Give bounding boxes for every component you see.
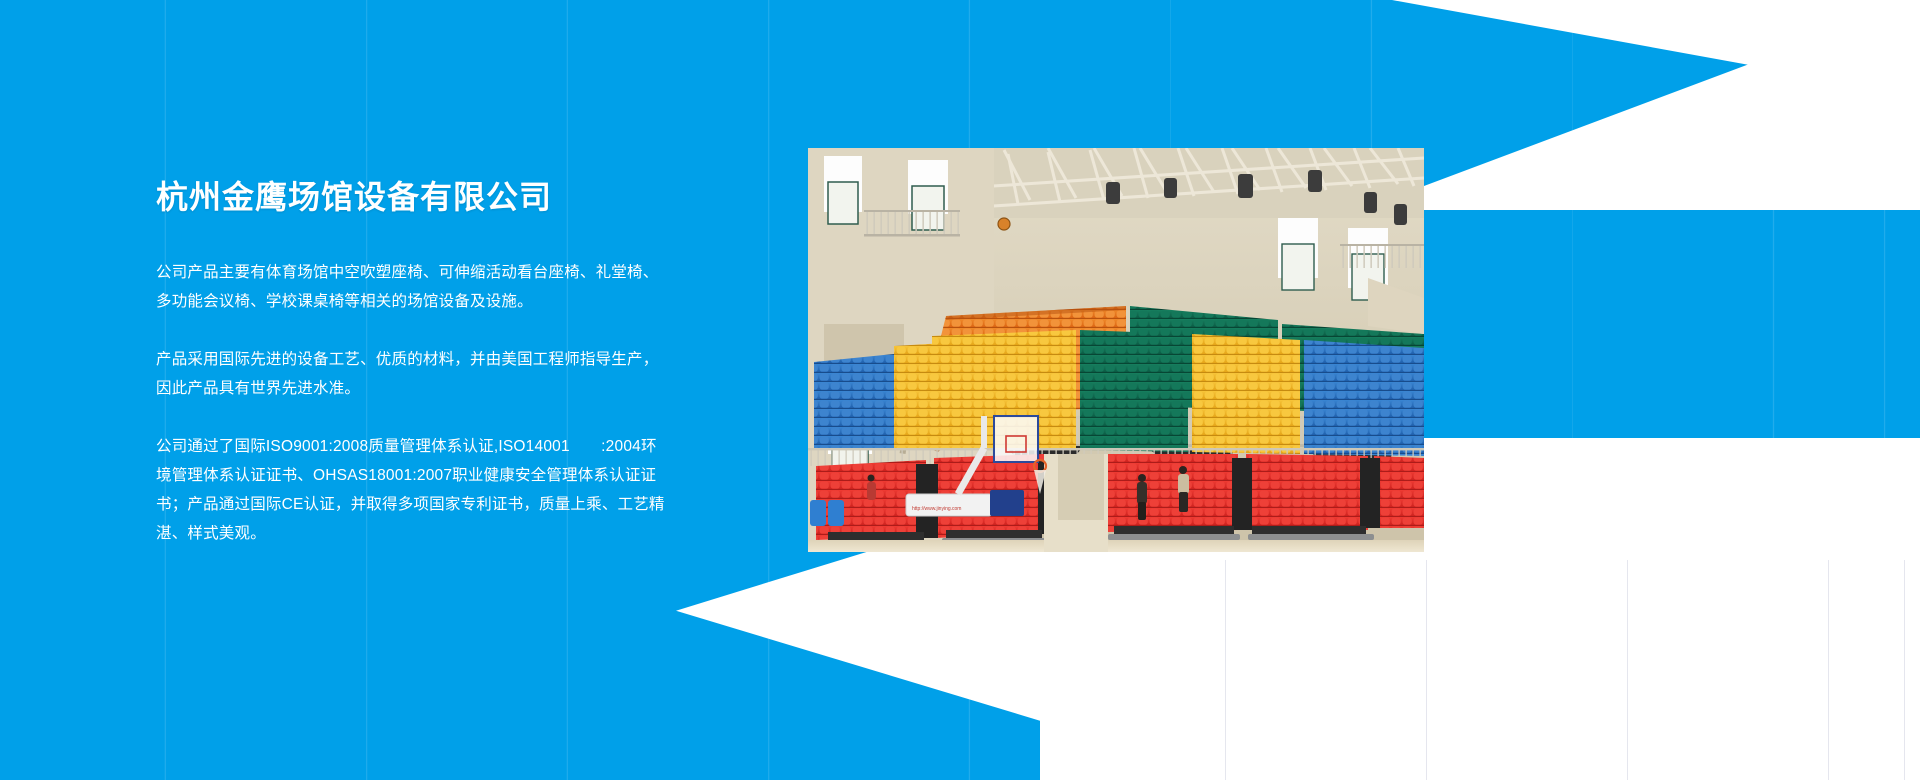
photo-illustration: http://www.jinying.com bbox=[808, 148, 1424, 552]
svg-text:http://www.jinying.com: http://www.jinying.com bbox=[912, 506, 961, 512]
about-paragraph-certifications: 公司通过了国际ISO9001:2008质量管理体系认证,ISO14001 :20… bbox=[156, 432, 666, 548]
page-title: 杭州金鹰场馆设备有限公司 bbox=[156, 178, 666, 216]
gymnasium-bleachers-photo: http://www.jinying.com bbox=[808, 148, 1424, 552]
about-paragraph-technology: 产品采用国际先进的设备工艺、优质的材料，并由美国工程师指导生产，因此产品具有世界… bbox=[156, 345, 666, 403]
company-info-block: 杭州金鹰场馆设备有限公司 公司产品主要有体育场馆中空吹塑座椅、可伸缩活动看台座椅… bbox=[156, 178, 666, 548]
banner-stage: http://www.jinying.com 杭州金鹰场馆设备有限公司 公司产品… bbox=[0, 0, 1920, 780]
about-paragraph-products: 公司产品主要有体育场馆中空吹塑座椅、可伸缩活动看台座椅、礼堂椅、多功能会议椅、学… bbox=[156, 258, 666, 316]
